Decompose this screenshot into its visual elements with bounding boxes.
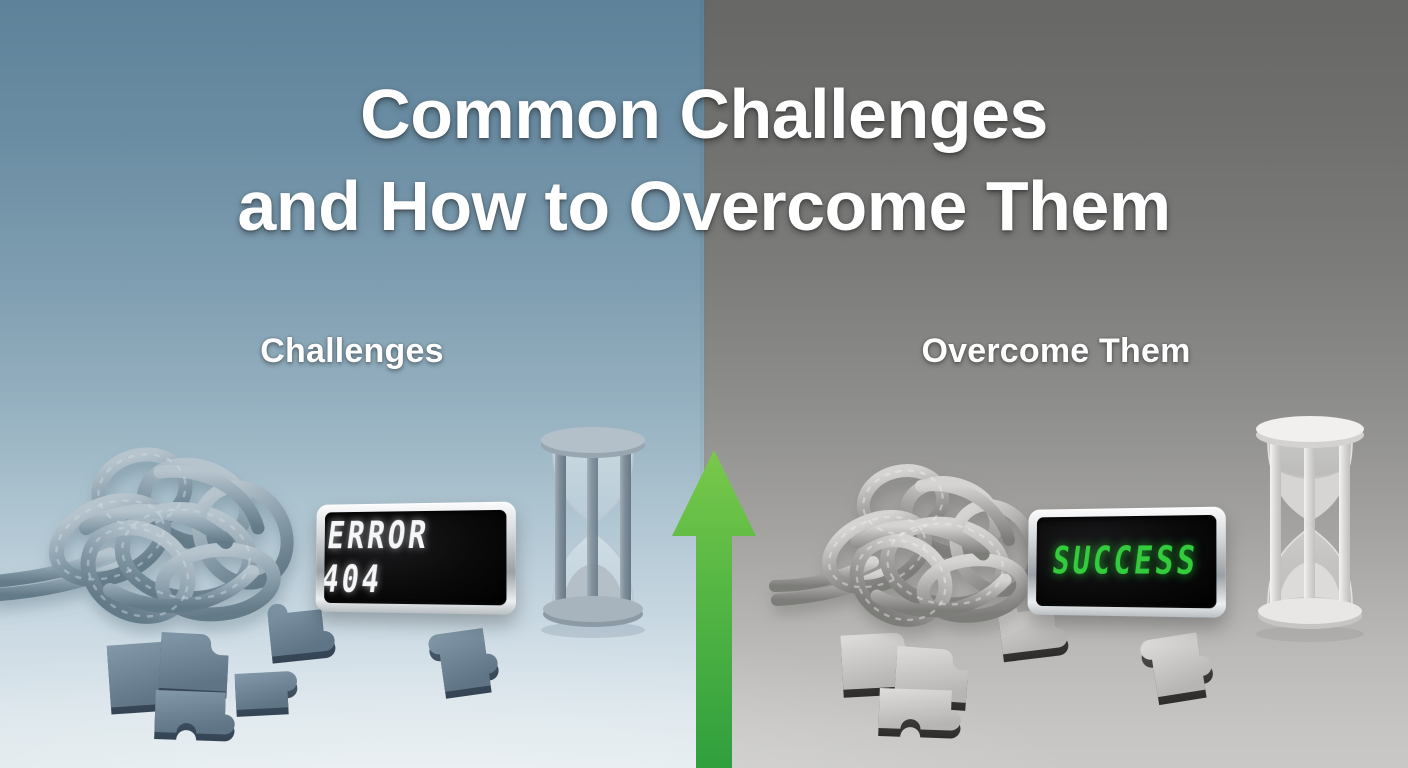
left-panel-label: Challenges	[0, 332, 704, 371]
right-panel-label: Overcome Them	[704, 332, 1408, 371]
digital-display-error[interactable]: ERROR 404	[312, 503, 514, 613]
rope-knot-icon-right	[775, 460, 1045, 650]
display-screen: ERROR 404	[324, 510, 506, 606]
hourglass-icon-left	[529, 418, 657, 640]
display-screen: SUCCESS	[1036, 515, 1216, 608]
infographic-canvas: Common Challenges and How to Overcome Th…	[0, 0, 1408, 768]
display-value-success: SUCCESS	[1050, 539, 1201, 585]
display-value-error: ERROR 404	[324, 512, 506, 604]
rope-knot-icon-left	[0, 432, 300, 642]
up-arrow-icon	[670, 448, 758, 768]
hourglass-icon-right	[1243, 406, 1377, 644]
page-title: Common Challenges and How to Overcome Th…	[0, 68, 1408, 253]
digital-display-success[interactable]: SUCCESS	[1024, 508, 1224, 616]
display-bezel: ERROR 404	[316, 502, 516, 615]
display-bezel: SUCCESS	[1027, 507, 1225, 618]
